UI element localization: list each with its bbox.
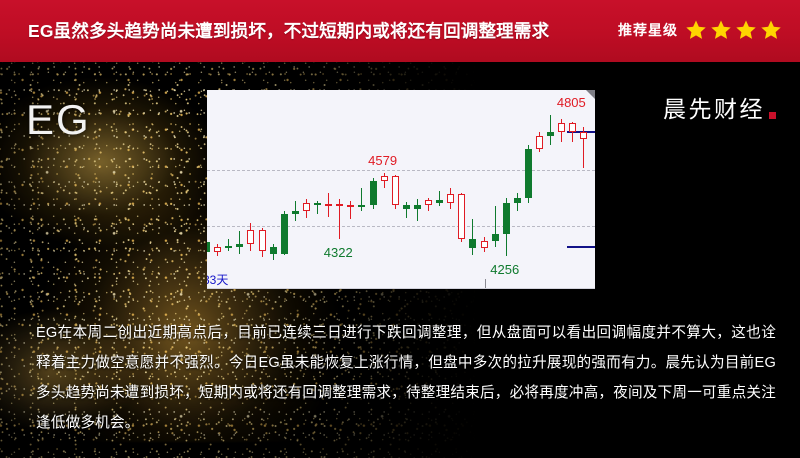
- star-icon: [685, 19, 707, 41]
- candlestick-body: [414, 205, 421, 208]
- candlestick-bar[interactable]: [503, 198, 510, 255]
- candlestick-bar[interactable]: [403, 202, 410, 218]
- chart-price-annotation: 4256: [490, 262, 519, 277]
- candlestick-bar[interactable]: [580, 127, 587, 168]
- candlestick-bar[interactable]: [558, 119, 565, 142]
- candlestick-body: [314, 203, 321, 206]
- candlestick-body: [325, 204, 332, 206]
- candlestick-body: [425, 200, 432, 205]
- candlestick-body: [292, 211, 299, 214]
- candlestick-body: [536, 136, 543, 149]
- chart-x-tick: [485, 279, 486, 288]
- candlestick-body: [547, 132, 554, 137]
- candlestick-wick: [406, 202, 407, 218]
- candlestick-body: [358, 205, 365, 207]
- candlestick-bar[interactable]: [247, 223, 254, 252]
- candlestick-bar[interactable]: [425, 198, 432, 210]
- candlestick-bar[interactable]: [547, 115, 554, 144]
- candlestick-body: [247, 230, 254, 244]
- candlestick-body: [503, 203, 510, 234]
- candlestick-bar[interactable]: [481, 237, 488, 253]
- candlestick-body: [236, 244, 243, 247]
- candlestick-body: [558, 123, 565, 132]
- candlestick-wick: [361, 188, 362, 211]
- candlestick-bar[interactable]: [236, 231, 243, 254]
- candlestick-bar[interactable]: [392, 175, 399, 209]
- star-icon: [760, 19, 782, 41]
- analysis-commentary: EG在本周二创出近期高点后，目前已连续三日进行下跌回调整理，但从盘面可以看出回调…: [36, 318, 776, 438]
- candlestick-body: [214, 247, 221, 253]
- candlestick-bar[interactable]: [536, 132, 543, 152]
- candlestick-body: [381, 176, 388, 181]
- candlestick-bar[interactable]: [436, 191, 443, 207]
- candlestick-body: [481, 241, 488, 248]
- chart-price-annotation: 4322: [324, 245, 353, 260]
- candlestick-body: [447, 194, 454, 204]
- candlestick-body: [270, 247, 277, 254]
- candlestick-bar[interactable]: [303, 199, 310, 218]
- candlestick-wick: [228, 239, 229, 251]
- chart-axis-marker: [567, 246, 595, 248]
- candlestick-bar[interactable]: [458, 193, 465, 242]
- candlestick-bar[interactable]: [514, 193, 521, 211]
- candlestick-bar[interactable]: [207, 234, 210, 255]
- header-banner: EG虽然多头趋势尚未遭到损坏，不过短期内或将还有回调整理需求 推荐星级: [0, 0, 800, 62]
- rating-label: 推荐星级: [618, 20, 678, 40]
- candlestick-body: [580, 132, 587, 140]
- candlestick-bar[interactable]: [225, 239, 232, 251]
- candlestick-wick: [417, 199, 418, 221]
- candlestick-wick: [239, 231, 240, 254]
- candlestick-body: [436, 200, 443, 203]
- chart-price-annotation: 4579: [368, 153, 397, 168]
- candlestick-bar[interactable]: [469, 219, 476, 255]
- rating-stars: [685, 19, 782, 41]
- candlestick-body: [225, 246, 232, 248]
- brand-name: 晨先财经: [663, 90, 765, 124]
- candlestick-bar[interactable]: [569, 122, 576, 141]
- candlestick-bar[interactable]: [525, 145, 532, 204]
- candlestick-bar[interactable]: [214, 244, 221, 255]
- candlestick-body: [469, 239, 476, 248]
- candlestick-body: [259, 230, 266, 251]
- page-title: EG虽然多头趋势尚未遭到损坏，不过短期内或将还有回调整理需求: [28, 18, 549, 43]
- candlestick-body: [207, 242, 210, 253]
- star-icon: [735, 19, 757, 41]
- candlestick-body: [492, 234, 499, 241]
- candlestick-body: [392, 176, 399, 206]
- candlestick-wick: [550, 115, 551, 144]
- candlestick-body: [525, 149, 532, 198]
- chart-price-annotation: 4805: [557, 95, 586, 110]
- candlestick-bar[interactable]: [347, 201, 354, 218]
- candlestick-bar[interactable]: [281, 211, 288, 255]
- candlestick-chart[interactable]: 33天 4805457943224256: [207, 90, 595, 289]
- candlestick-bar[interactable]: [414, 199, 421, 221]
- brand-logo: 晨先财经: [663, 90, 776, 124]
- star-icon: [710, 19, 732, 41]
- rating-block: 推荐星级: [618, 19, 782, 41]
- candlestick-bar[interactable]: [314, 201, 321, 214]
- chart-gridline: [207, 170, 595, 171]
- candlestick-body: [403, 205, 410, 208]
- candlestick-bar[interactable]: [358, 188, 365, 211]
- candlestick-bar[interactable]: [325, 193, 332, 217]
- chart-plot-area[interactable]: 33天 4805457943224256: [207, 90, 595, 289]
- candlestick-body: [281, 214, 288, 254]
- chart-period-label: 33天: [207, 271, 228, 288]
- candlestick-bar[interactable]: [381, 173, 388, 188]
- candlestick-body: [336, 204, 343, 206]
- candlestick-bar[interactable]: [259, 228, 266, 256]
- chart-baseline: [207, 288, 595, 289]
- candlestick-bar[interactable]: [447, 188, 454, 208]
- candlestick-bar[interactable]: [336, 199, 343, 239]
- candlestick-body: [303, 203, 310, 211]
- candlestick-body: [569, 123, 576, 132]
- candlestick-wick: [472, 219, 473, 255]
- candlestick-body: [347, 205, 354, 207]
- candlestick-body: [370, 181, 377, 205]
- instrument-symbol: EG: [26, 96, 91, 144]
- chart-gridline: [207, 226, 595, 227]
- candlestick-bar[interactable]: [492, 206, 499, 247]
- candlestick-body: [514, 198, 521, 203]
- candlestick-wick: [439, 191, 440, 207]
- candlestick-body: [458, 194, 465, 240]
- candlestick-bar[interactable]: [292, 201, 299, 221]
- poster-canvas: EG虽然多头趋势尚未遭到损坏，不过短期内或将还有回调整理需求 推荐星级 EG 晨…: [0, 0, 800, 458]
- candlestick-bar[interactable]: [370, 178, 377, 209]
- candlestick-bar[interactable]: [270, 244, 277, 259]
- brand-accent-dot: [769, 112, 776, 119]
- candlestick-wick: [350, 201, 351, 218]
- chart-folded-corner-icon: [586, 90, 595, 99]
